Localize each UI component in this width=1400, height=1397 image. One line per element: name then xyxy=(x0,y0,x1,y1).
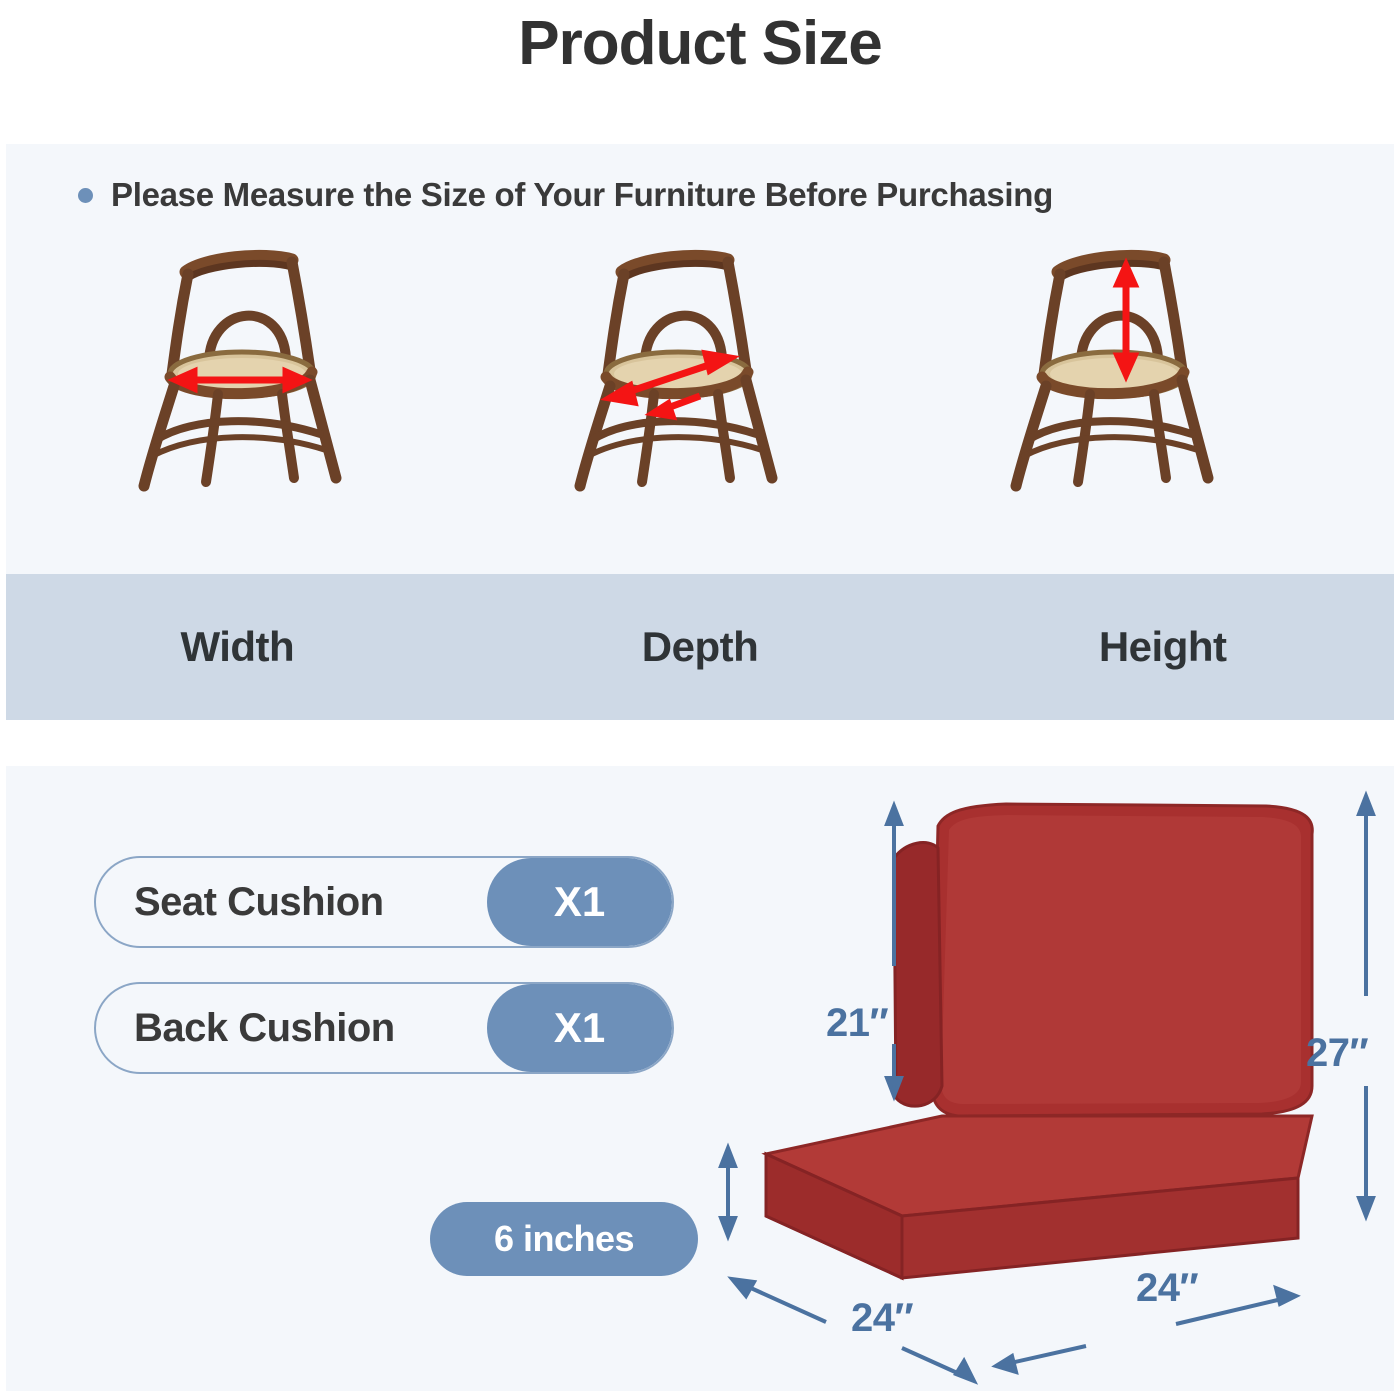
back-cushion-illustration xyxy=(894,804,1312,1116)
chair-diagram-row xyxy=(6,214,1394,514)
chair-height-diagram-icon xyxy=(986,234,1286,514)
measure-note-row: Please Measure the Size of Your Furnitur… xyxy=(6,144,1394,214)
status-badge-thickness: 6 inches xyxy=(430,1202,698,1276)
list-item: Seat Cushion X1 xyxy=(94,856,674,948)
dimension-label-band: Width Depth Height xyxy=(6,574,1394,720)
package-contents-panel: Seat Cushion X1 Back Cushion X1 6 inches xyxy=(6,766,1394,1391)
chair-width-diagram-icon xyxy=(114,234,414,514)
cushion-dimension-diagram: 21″ 27″ 24″ 24″ xyxy=(706,786,1394,1391)
dimension-label-width: Width xyxy=(6,574,469,720)
dimension-value-seat-depth: 24″ xyxy=(1136,1266,1198,1311)
bullet-dot-icon xyxy=(78,188,93,203)
chair-depth-diagram-icon xyxy=(550,234,850,514)
dimension-value-seat-width: 24″ xyxy=(851,1296,913,1341)
dimension-value-total-height: 27″ xyxy=(1306,1031,1368,1076)
pill-label-back-cushion: Back Cushion xyxy=(96,1006,487,1051)
measure-note-text: Please Measure the Size of Your Furnitur… xyxy=(111,176,1053,214)
status-badge-seat-cushion-qty: X1 xyxy=(487,858,672,946)
pill-label-seat-cushion: Seat Cushion xyxy=(96,880,487,925)
dimension-value-back-height: 21″ xyxy=(826,1001,888,1046)
dimension-label-depth: Depth xyxy=(469,574,932,720)
seat-cushion-illustration xyxy=(766,1116,1312,1278)
measure-furniture-panel: Please Measure the Size of Your Furnitur… xyxy=(6,144,1394,720)
page-title: Product Size xyxy=(0,0,1400,78)
dimension-label-height: Height xyxy=(931,574,1394,720)
status-badge-back-cushion-qty: X1 xyxy=(487,984,672,1072)
list-item: Back Cushion X1 xyxy=(94,982,674,1074)
contents-pill-list: Seat Cushion X1 Back Cushion X1 xyxy=(94,856,674,1108)
